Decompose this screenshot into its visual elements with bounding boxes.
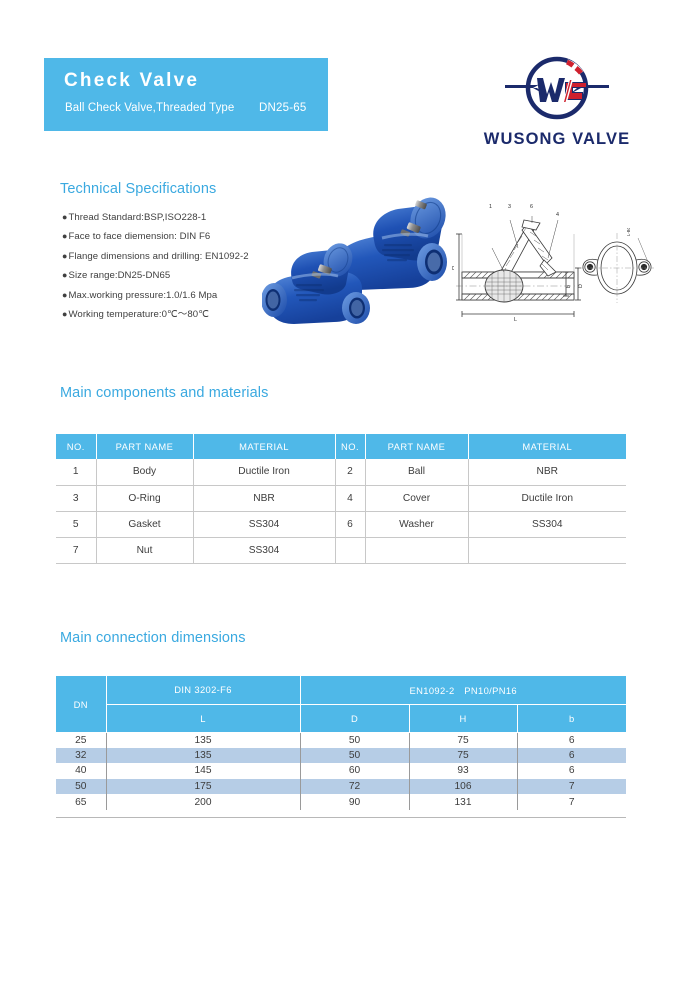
cell-no: 6 <box>335 511 365 537</box>
bullet-icon: ● <box>62 270 68 280</box>
cell-dn: 40 <box>56 763 106 779</box>
svg-text:6: 6 <box>530 204 533 210</box>
section-heading-components: Main components and materials <box>60 385 268 401</box>
list-item: ●Working temperature:0℃～80℃ <box>62 305 292 324</box>
product-photo <box>262 196 450 331</box>
cell-dn: 25 <box>56 732 106 748</box>
cell-no: 2 <box>335 459 365 485</box>
section-heading-dimensions: Main connection dimensions <box>60 630 246 646</box>
list-item: ●Face to face diemension: DIN F6 <box>62 227 292 246</box>
cell-material: NBR <box>193 485 335 511</box>
spec-text: Face to face diemension: DIN F6 <box>69 231 211 242</box>
col-header-material-2: MATERIAL <box>468 434 626 459</box>
cell-material: Ductile Iron <box>468 485 626 511</box>
cell-material: SS304 <box>193 511 335 537</box>
cell-no: 4 <box>335 485 365 511</box>
svg-text:1: 1 <box>489 204 492 210</box>
cell-dn: 50 <box>56 779 106 795</box>
cell-d: 50 <box>300 748 409 764</box>
table-row: 3 O-Ring NBR 4 Cover Ductile Iron <box>56 485 626 511</box>
bullet-icon: ● <box>62 309 68 319</box>
brand-logo: WUSONG VALVE <box>466 52 648 158</box>
cell-partname: Gasket <box>96 511 193 537</box>
svg-text:H: H <box>452 266 456 270</box>
cell-b: 7 <box>517 779 626 795</box>
page-title: Check Valve <box>64 70 199 92</box>
col-header-h: H <box>409 704 517 732</box>
page-header: Check Valve Ball Check Valve,Threaded Ty… <box>0 0 700 170</box>
cell-l: 200 <box>106 794 300 810</box>
col-header-group-en: EN1092-2 PN10/PN16 <box>300 676 626 704</box>
cell-b: 6 <box>517 732 626 748</box>
svg-text:b: b <box>566 285 572 288</box>
table-row: 5 Gasket SS304 6 Washer SS304 <box>56 511 626 537</box>
section-heading-technical: Technical Specifications <box>60 181 216 197</box>
cell-partname: O-Ring <box>96 485 193 511</box>
col-header-partname-2: PART NAME <box>365 434 468 459</box>
table-row: 7 Nut SS304 <box>56 537 626 563</box>
table-header-row: NO. PART NAME MATERIAL NO. PART NAME MAT… <box>56 434 626 459</box>
col-header-group-din: DIN 3202-F6 <box>106 676 300 704</box>
dimensions-table: DN DIN 3202-F6 EN1092-2 PN10/PN16 L D H … <box>56 676 626 810</box>
cell-dn: 65 <box>56 794 106 810</box>
cell-l: 175 <box>106 779 300 795</box>
spec-text: Working temperature:0℃～80℃ <box>69 309 210 320</box>
brand-name: WUSONG VALVE <box>466 130 648 149</box>
cell-dn: 32 <box>56 748 106 764</box>
technical-spec-list: ●Thread Standard:BSP,ISO228-1 ●Face to f… <box>62 208 292 324</box>
valve-cross-section-drawing: 1 3 6 4 H L D b <box>452 196 584 322</box>
cell-l: 135 <box>106 732 300 748</box>
cell-no <box>335 537 365 563</box>
col-header-partname-1: PART NAME <box>96 434 193 459</box>
cell-d: 72 <box>300 779 409 795</box>
spec-text: Thread Standard:BSP,ISO228-1 <box>69 212 207 223</box>
spec-text: Max.working pressure:1.0/1.6 Mpa <box>69 290 218 301</box>
table-row: 50 175 72 106 7 <box>56 779 626 795</box>
wusong-valve-logo-icon <box>503 52 611 124</box>
list-item: ●Thread Standard:BSP,ISO228-1 <box>62 208 292 227</box>
table-header-row-group: DN DIN 3202-F6 EN1092-2 PN10/PN16 <box>56 676 626 704</box>
cell-partname: Cover <box>365 485 468 511</box>
cell-h: 93 <box>409 763 517 779</box>
cell-h: 75 <box>409 748 517 764</box>
cell-h: 75 <box>409 732 517 748</box>
valve-end-view-drawing: L-BOLT <box>578 228 656 308</box>
size-range-label: DN25-65 <box>259 102 306 114</box>
dimensions-table-bottom-rule <box>56 817 626 818</box>
cell-partname: Nut <box>96 537 193 563</box>
col-header-b: b <box>517 704 626 732</box>
col-header-d: D <box>300 704 409 732</box>
table-header-row-sub: L D H b <box>56 704 626 732</box>
cell-b: 6 <box>517 748 626 764</box>
col-header-dn: DN <box>56 676 106 732</box>
cell-no: 1 <box>56 459 96 485</box>
bullet-icon: ● <box>62 231 68 241</box>
cell-no: 5 <box>56 511 96 537</box>
cell-material <box>468 537 626 563</box>
col-header-no-1: NO. <box>56 434 96 459</box>
cell-b: 7 <box>517 794 626 810</box>
col-header-material-1: MATERIAL <box>193 434 335 459</box>
svg-text:L-BOLT: L-BOLT <box>626 228 631 236</box>
cell-material: SS304 <box>193 537 335 563</box>
list-item: ●Max.working pressure:1.0/1.6 Mpa <box>62 286 292 305</box>
cell-partname: Ball <box>365 459 468 485</box>
bullet-icon: ● <box>62 212 68 222</box>
list-item: ●Size range:DN25-DN65 <box>62 266 292 285</box>
table-row: 40 145 60 93 6 <box>56 763 626 779</box>
cell-d: 60 <box>300 763 409 779</box>
cell-partname: Washer <box>365 511 468 537</box>
bullet-icon: ● <box>62 290 68 300</box>
table-row: 1 Body Ductile Iron 2 Ball NBR <box>56 459 626 485</box>
title-banner: Check Valve Ball Check Valve,Threaded Ty… <box>44 58 328 131</box>
cell-material: SS304 <box>468 511 626 537</box>
cell-l: 145 <box>106 763 300 779</box>
list-item: ●Flange dimensions and drilling: EN1092-… <box>62 247 292 266</box>
cell-d: 90 <box>300 794 409 810</box>
page-subtitle: Ball Check Valve,Threaded Type <box>65 102 234 114</box>
cell-h: 106 <box>409 779 517 795</box>
spec-text: Size range:DN25-DN65 <box>69 270 171 281</box>
cell-material: NBR <box>468 459 626 485</box>
col-header-l: L <box>106 704 300 732</box>
cell-d: 50 <box>300 732 409 748</box>
col-header-no-2: NO. <box>335 434 365 459</box>
table-row: 25 135 50 75 6 <box>56 732 626 748</box>
spec-text: Flange dimensions and drilling: EN1092-2 <box>69 251 249 262</box>
cell-no: 7 <box>56 537 96 563</box>
table-row: 32 135 50 75 6 <box>56 748 626 764</box>
cell-material: Ductile Iron <box>193 459 335 485</box>
cell-no: 3 <box>56 485 96 511</box>
cell-l: 135 <box>106 748 300 764</box>
cell-h: 131 <box>409 794 517 810</box>
cell-partname <box>365 537 468 563</box>
svg-text:3: 3 <box>508 204 511 210</box>
svg-text:4: 4 <box>556 212 559 218</box>
table-row: 65 200 90 131 7 <box>56 794 626 810</box>
cell-b: 6 <box>517 763 626 779</box>
svg-text:L: L <box>514 317 517 322</box>
cell-partname: Body <box>96 459 193 485</box>
bullet-icon: ● <box>62 251 68 261</box>
components-table: NO. PART NAME MATERIAL NO. PART NAME MAT… <box>56 434 626 564</box>
